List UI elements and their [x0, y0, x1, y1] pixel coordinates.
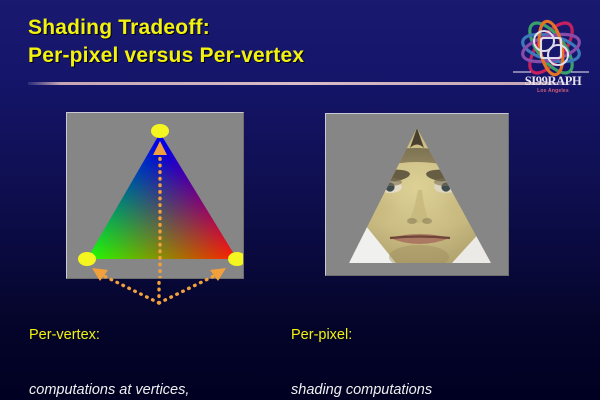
vertex-marker-apex: [151, 124, 169, 138]
caption-per-pixel-heading: Per-pixel:: [291, 326, 432, 345]
vertex-marker-bottom-left: [78, 252, 96, 266]
caption-per-pixel-line-1: shading computations: [291, 381, 432, 399]
left-figure-panel: [66, 112, 244, 279]
caption-per-pixel: Per-pixel: shading computations at each …: [291, 290, 432, 400]
slide-canvas: Shading Tradeoff: Per-pixel versus Per-v…: [0, 0, 600, 400]
caption-per-vertex-line-1: computations at vertices,: [29, 381, 189, 399]
caption-per-vertex-heading: Per-vertex:: [29, 326, 189, 345]
logo-sublabel: Los Angeles: [507, 88, 599, 94]
right-figure-panel: [325, 113, 509, 276]
title-line-2: Per-pixel versus Per-vertex: [28, 44, 304, 67]
logo-wordmark: SI99RAPH: [507, 74, 599, 89]
caption-per-vertex: Per-vertex: computations at vertices, in…: [29, 290, 189, 400]
title-divider: [28, 82, 572, 85]
title-line-1: Shading Tradeoff:: [28, 16, 210, 39]
page-title: Shading Tradeoff: Per-pixel versus Per-v…: [28, 14, 304, 70]
